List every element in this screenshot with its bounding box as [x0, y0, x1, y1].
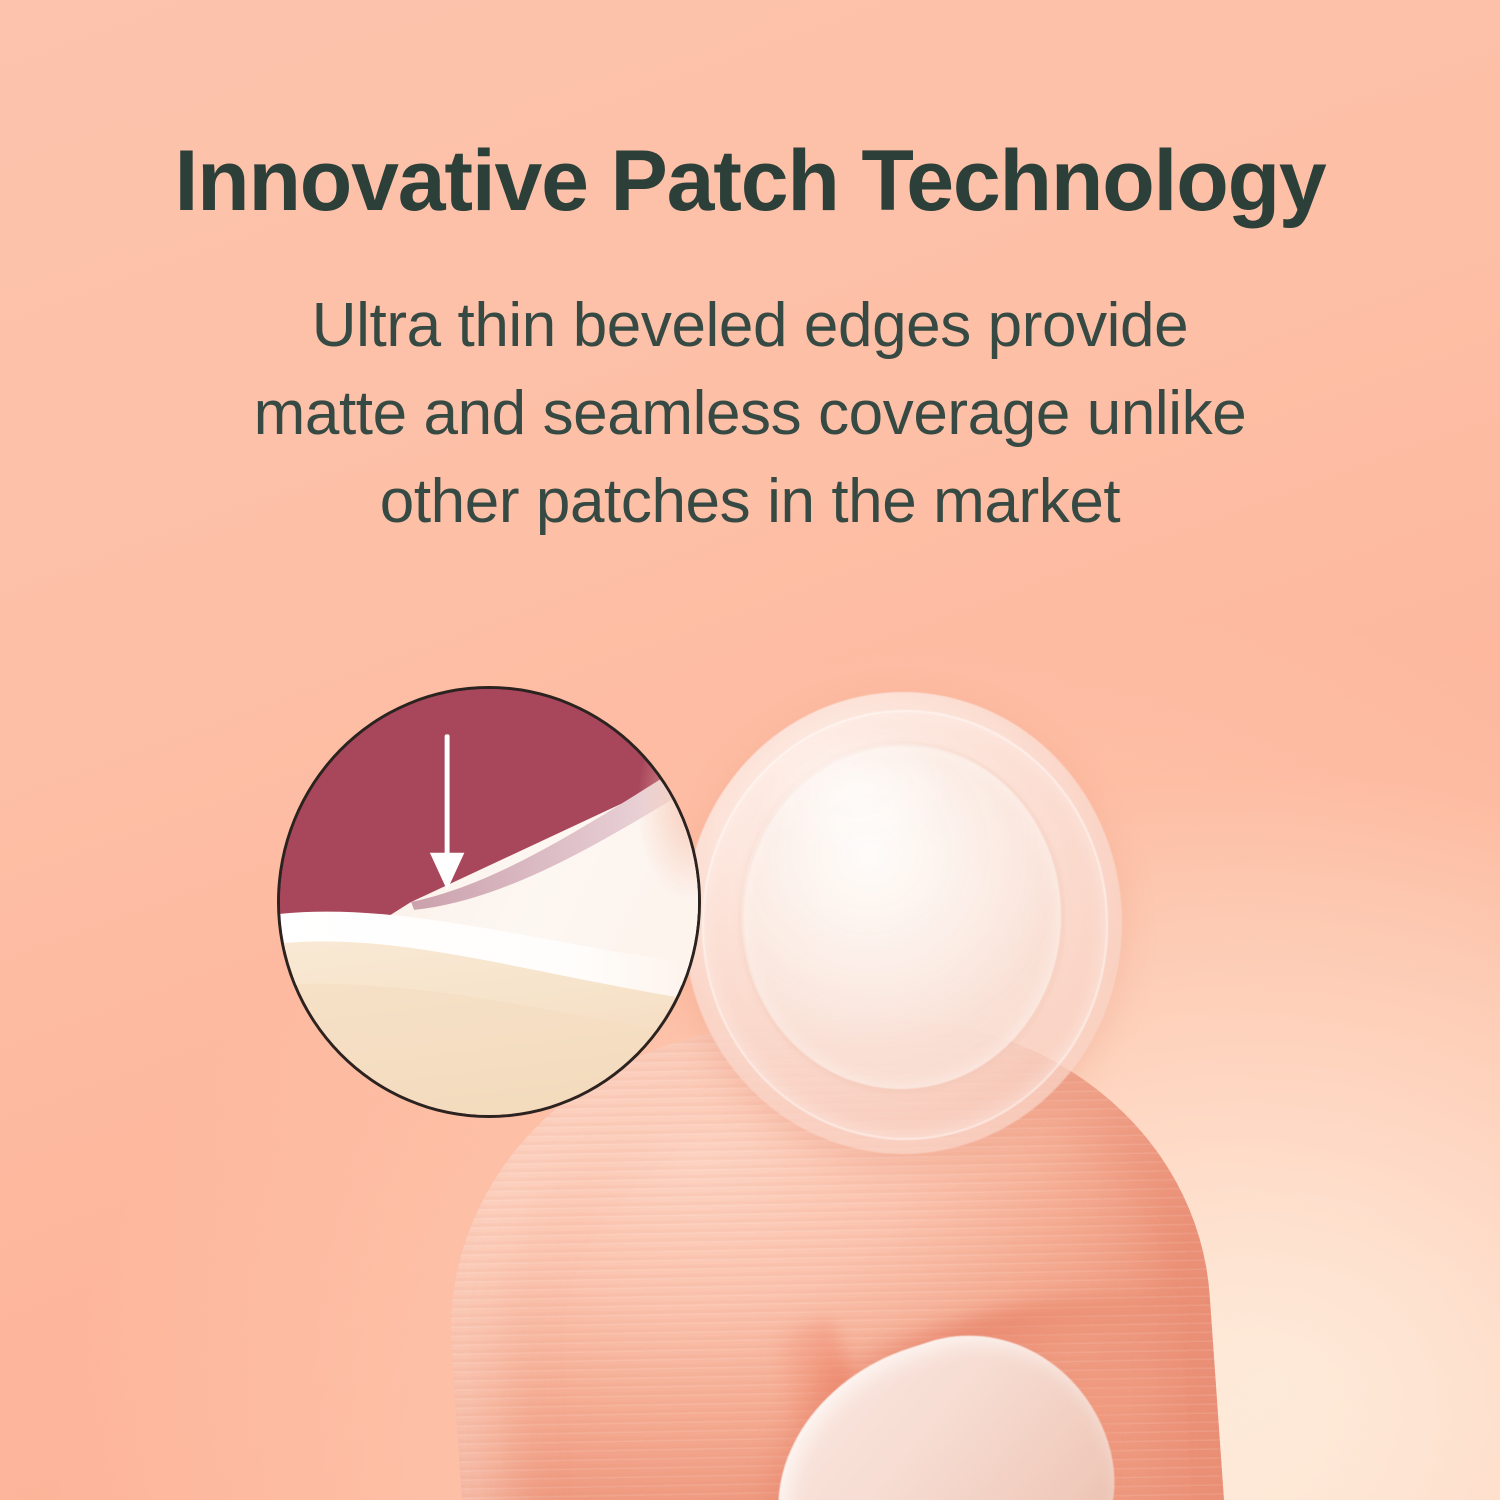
cross-section-diagram — [280, 689, 698, 1115]
hydrocolloid-patch — [684, 692, 1122, 1154]
magnifier-circle — [277, 686, 701, 1118]
patch-highlight — [763, 729, 991, 886]
product-photo — [0, 0, 1500, 1500]
product-feature-graphic: Innovative Patch Technology Ultra thin b… — [0, 0, 1500, 1500]
